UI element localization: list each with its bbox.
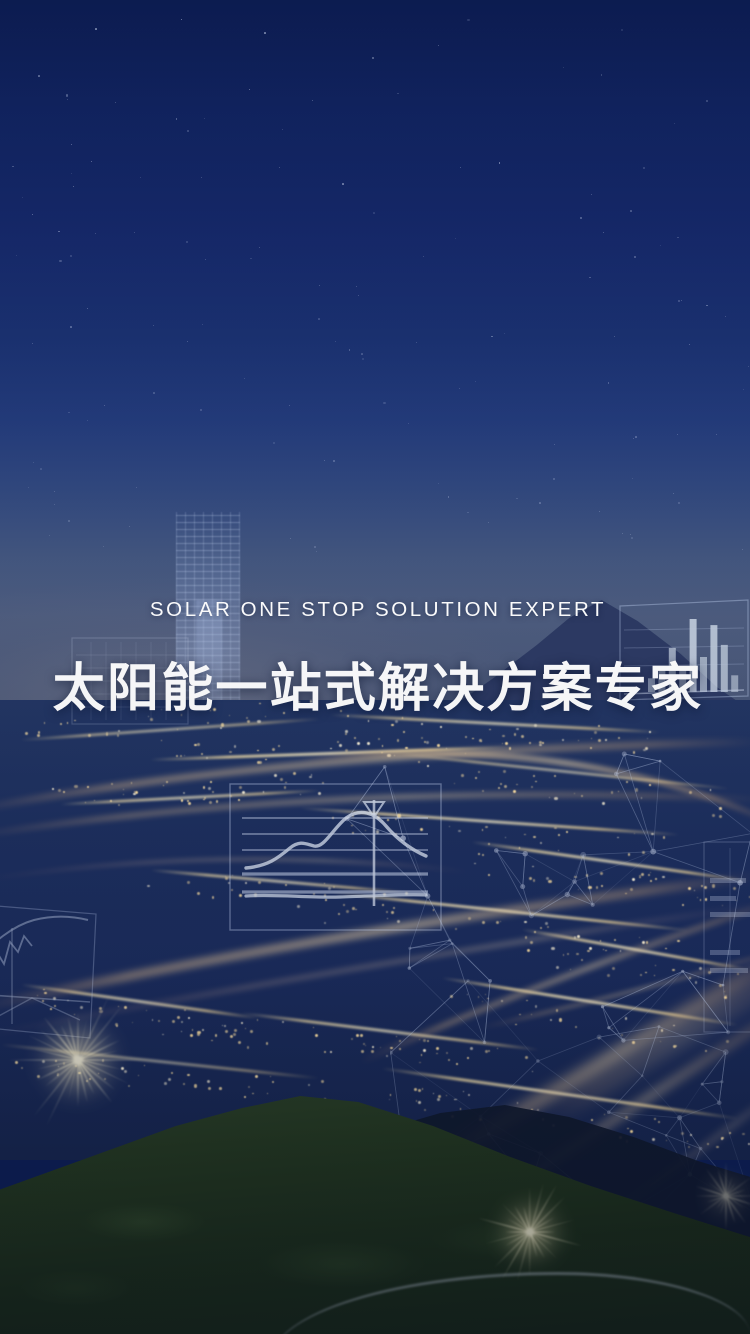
mesh-edge [531, 895, 567, 916]
panel-curve [246, 812, 426, 868]
mesh-node [650, 849, 656, 855]
mesh-node [723, 1049, 729, 1055]
mesh-edge [609, 1112, 680, 1118]
mesh-node [607, 1110, 611, 1114]
mesh-edge [680, 1084, 703, 1118]
mesh-node [701, 1083, 704, 1086]
mesh-node [641, 1075, 644, 1078]
mesh-edge [599, 1027, 659, 1038]
hero-text-block: SOLAR ONE STOP SOLUTION EXPERT 太阳能一站式解决方… [0, 600, 750, 715]
mesh-node [408, 947, 411, 950]
banner-eyebrow: SOLAR ONE STOP SOLUTION EXPERT [0, 600, 750, 621]
mesh-node [494, 848, 499, 853]
mesh-edge [666, 1118, 679, 1136]
light-flare [486, 1188, 574, 1276]
mesh-node [448, 939, 451, 942]
mesh-edge [575, 852, 654, 882]
mesh-edge [702, 1084, 719, 1103]
mesh-node [529, 913, 534, 918]
panel-axis [0, 994, 90, 1002]
mesh-node [699, 1147, 703, 1151]
panel-bar [710, 878, 746, 883]
panel-bar [710, 950, 740, 955]
mesh-node [572, 879, 577, 884]
mesh-edge [531, 882, 574, 916]
mesh-edge [523, 854, 526, 887]
mesh-node [467, 979, 470, 982]
mesh-edge [660, 761, 750, 833]
mesh-edge [624, 754, 653, 852]
flare-core [724, 1194, 729, 1199]
mesh-edge [525, 854, 574, 882]
panel-frame [230, 784, 441, 930]
mesh-edge [468, 981, 538, 1061]
panel-zigzag [0, 936, 32, 984]
panel-frame [704, 842, 750, 1032]
mesh-node [565, 892, 570, 897]
mesh-edge [538, 1061, 609, 1112]
mesh-node [622, 752, 627, 757]
mesh-node [451, 942, 454, 945]
mesh-node [665, 1134, 668, 1137]
mesh-edge [583, 852, 653, 855]
mesh-edge [616, 754, 624, 774]
mesh-edge [496, 851, 525, 854]
mesh-node [523, 851, 528, 856]
banner-headline: 太阳能一站式解决方案专家 [0, 663, 750, 715]
mesh-node [614, 772, 619, 777]
mesh-node [520, 884, 525, 889]
solar-banner-screen: SOLAR ONE STOP SOLUTION EXPERT 太阳能一站式解决方… [0, 0, 750, 1334]
mesh-edge [567, 855, 583, 895]
mesh-node [720, 1080, 723, 1083]
mesh-edge [391, 981, 468, 1053]
mesh-edge [496, 851, 522, 887]
light-flare [700, 1170, 750, 1222]
mesh-node [383, 765, 387, 769]
mesh-node [677, 1115, 682, 1120]
mesh-edge [593, 852, 654, 905]
mesh-edge [624, 754, 660, 761]
mesh-edge [583, 855, 593, 905]
mesh-node [658, 1025, 661, 1028]
mesh-node [591, 903, 595, 907]
mesh-edge [599, 1037, 642, 1076]
mesh-edge [653, 761, 660, 852]
panel-bar [710, 896, 736, 901]
data-panel-far-right [700, 838, 750, 1038]
flare-core [526, 1228, 534, 1236]
mesh-edge [616, 761, 660, 774]
mesh-edge [496, 851, 531, 916]
flare-core [73, 1055, 83, 1065]
light-flare [22, 1004, 134, 1116]
panel-bar [710, 968, 748, 973]
mesh-node [717, 1100, 722, 1105]
mesh-edge [391, 1053, 481, 1117]
panel-baseline-curve [246, 895, 426, 897]
line-chart-panel-center [228, 782, 443, 932]
mesh-node [597, 1035, 602, 1040]
mesh-edge [702, 1082, 722, 1084]
mesh-edge [616, 774, 653, 852]
mesh-edge [642, 1076, 679, 1118]
mesh-edge [523, 887, 532, 916]
panel-curve [0, 917, 88, 962]
mesh-node [659, 760, 662, 763]
mesh-edge [642, 1027, 659, 1076]
mesh-node [536, 1059, 539, 1062]
mesh-edge [538, 1037, 599, 1061]
mesh-node [580, 852, 586, 858]
mesh-edge [680, 1103, 720, 1118]
mesh-edge [609, 1076, 642, 1112]
